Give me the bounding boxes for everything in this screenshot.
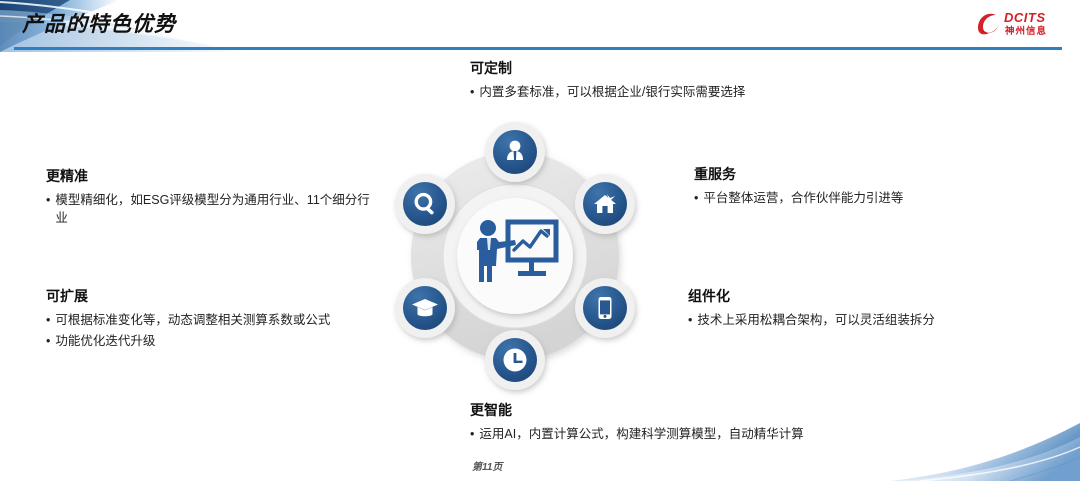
bullet-icon: • <box>694 189 698 207</box>
feature-bullet-text: 平台整体运营，合作伙伴能力引进等 <box>703 189 1024 207</box>
feature-bullet-text: 技术上采用松耦合架构，可以灵活组装拆分 <box>697 311 1028 329</box>
bullet-icon: • <box>470 83 474 101</box>
bullet-icon: • <box>688 311 692 329</box>
feature-bullet-text: 可根据标准变化等，动态调整相关测算系数或公式 <box>55 311 378 329</box>
logo-swirl-icon <box>978 14 998 35</box>
slide: 产品的特色优势 DCITS 神州信息 <box>0 0 1080 481</box>
bullet-icon: • <box>46 332 50 350</box>
page-number: 第11页 <box>472 458 502 473</box>
feature-title-modular: 组件化 <box>688 288 1028 305</box>
diagram-center <box>457 198 573 314</box>
feature-bullet: • 内置多套标准，可以根据企业/银行实际需要选择 <box>470 83 900 101</box>
feature-title-extensible: 可扩展 <box>46 288 378 305</box>
feature-bullet: • 功能优化迭代升级 <box>46 332 378 350</box>
feature-block-customizable: 可定制 • 内置多套标准，可以根据企业/银行实际需要选择 <box>470 60 900 104</box>
node-graduation-cap[interactable] <box>395 278 455 338</box>
feature-title-service: 重服务 <box>694 166 1024 183</box>
feature-bullet: • 模型精细化，如ESG评级模型分为通用行业、11个细分行业 <box>46 191 376 227</box>
company-logo: DCITS 神州信息 <box>972 8 1068 38</box>
feature-bullet-text: 模型精细化，如ESG评级模型分为通用行业、11个细分行业 <box>55 191 376 227</box>
mobile-phone-icon <box>599 297 612 319</box>
bullet-icon: • <box>46 191 50 209</box>
feature-bullet-text: 功能优化迭代升级 <box>55 332 378 350</box>
page-title: 产品的特色优势 <box>22 8 176 38</box>
svg-text:神州信息: 神州信息 <box>1005 25 1047 37</box>
feature-bullet: • 平台整体运营，合作伙伴能力引进等 <box>694 189 1024 207</box>
node-magnifier[interactable] <box>395 174 455 234</box>
clock-icon <box>504 349 527 372</box>
footer-swoosh-decoration <box>890 419 1080 481</box>
node-person[interactable] <box>485 122 545 182</box>
feature-block-extensible: 可扩展 • 可根据标准变化等，动态调整相关测算系数或公式 • 功能优化迭代升级 <box>46 288 378 353</box>
slide-header: 产品的特色优势 DCITS 神州信息 <box>0 0 1080 52</box>
feature-block-accurate: 更精准 • 模型精细化，如ESG评级模型分为通用行业、11个细分行业 <box>46 168 376 230</box>
bullet-icon: • <box>46 311 50 329</box>
node-clock[interactable] <box>485 330 545 390</box>
feature-title-smart: 更智能 <box>470 402 930 419</box>
feature-title-customizable: 可定制 <box>470 60 900 77</box>
feature-block-service: 重服务 • 平台整体运营，合作伙伴能力引进等 <box>694 166 1024 210</box>
feature-bullet: • 技术上采用松耦合架构，可以灵活组装拆分 <box>688 311 1028 329</box>
feature-bullet-text: 内置多套标准，可以根据企业/银行实际需要选择 <box>479 83 900 101</box>
node-house[interactable] <box>575 174 635 234</box>
hub-diagram <box>370 108 660 404</box>
feature-bullet: • 可根据标准变化等，动态调整相关测算系数或公式 <box>46 311 378 329</box>
header-divider-rule <box>14 47 1062 50</box>
feature-block-modular: 组件化 • 技术上采用松耦合架构，可以灵活组装拆分 <box>688 288 1028 332</box>
feature-bullet: • 运用AI，内置计算公式，构建科学测算模型，自动精华计算 <box>470 425 930 443</box>
node-mobile-phone[interactable] <box>575 278 635 338</box>
feature-bullet-text: 运用AI，内置计算公式，构建科学测算模型，自动精华计算 <box>479 425 930 443</box>
bullet-icon: • <box>470 425 474 443</box>
feature-block-smart: 更智能 • 运用AI，内置计算公式，构建科学测算模型，自动精华计算 <box>470 402 930 446</box>
svg-text:DCITS: DCITS <box>1004 10 1046 25</box>
feature-title-accurate: 更精准 <box>46 168 376 185</box>
